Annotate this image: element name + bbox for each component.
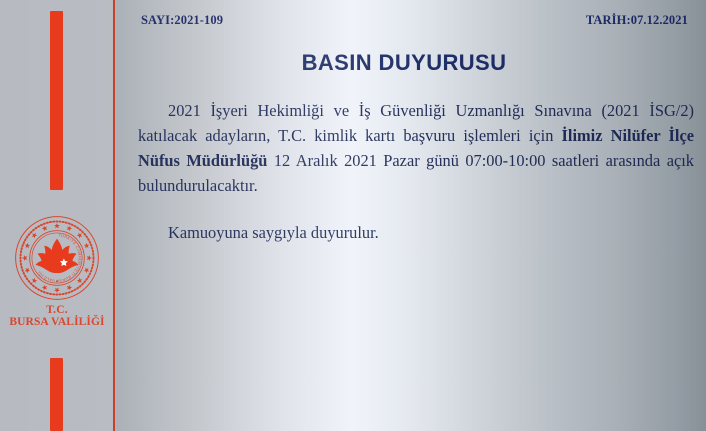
document-meta-row: SAYI:2021-109 TARİH:07.12.2021 bbox=[116, 13, 690, 29]
page-title: BASIN DUYURUSU bbox=[116, 50, 692, 76]
red-accent-bar-bottom bbox=[50, 358, 63, 431]
emblem-caption: T.C. BURSA VALİLİĞİ bbox=[0, 304, 114, 329]
body-paragraph-1: 2021 İşyeri Hekimliği ve İş Güvenliği Uz… bbox=[138, 98, 694, 198]
document-body: 2021 İşyeri Hekimliği ve İş Güvenliği Uz… bbox=[138, 98, 694, 245]
column-divider bbox=[113, 0, 115, 431]
governorship-emblem: TÜRKİYE CUMHURİYETİ BURSA VALİLİĞİ T.C. … bbox=[0, 214, 114, 329]
emblem-caption-line-1: T.C. bbox=[0, 304, 114, 316]
turkish-republic-governorship-seal-icon: TÜRKİYE CUMHURİYETİ BURSA VALİLİĞİ bbox=[13, 214, 101, 302]
body-paragraph-2: Kamuoyuna saygıyla duyurulur. bbox=[138, 220, 694, 245]
emblem-column: TÜRKİYE CUMHURİYETİ BURSA VALİLİĞİ T.C. … bbox=[0, 0, 114, 431]
red-accent-bar-top bbox=[50, 11, 63, 190]
emblem-caption-line-2: BURSA VALİLİĞİ bbox=[0, 316, 114, 328]
reference-number: SAYI:2021-109 bbox=[141, 13, 223, 28]
document-date: TARİH:07.12.2021 bbox=[586, 13, 688, 28]
document-content: SAYI:2021-109 TARİH:07.12.2021 BASIN DUY… bbox=[116, 0, 706, 431]
press-release-poster: TÜRKİYE CUMHURİYETİ BURSA VALİLİĞİ T.C. … bbox=[0, 0, 706, 431]
